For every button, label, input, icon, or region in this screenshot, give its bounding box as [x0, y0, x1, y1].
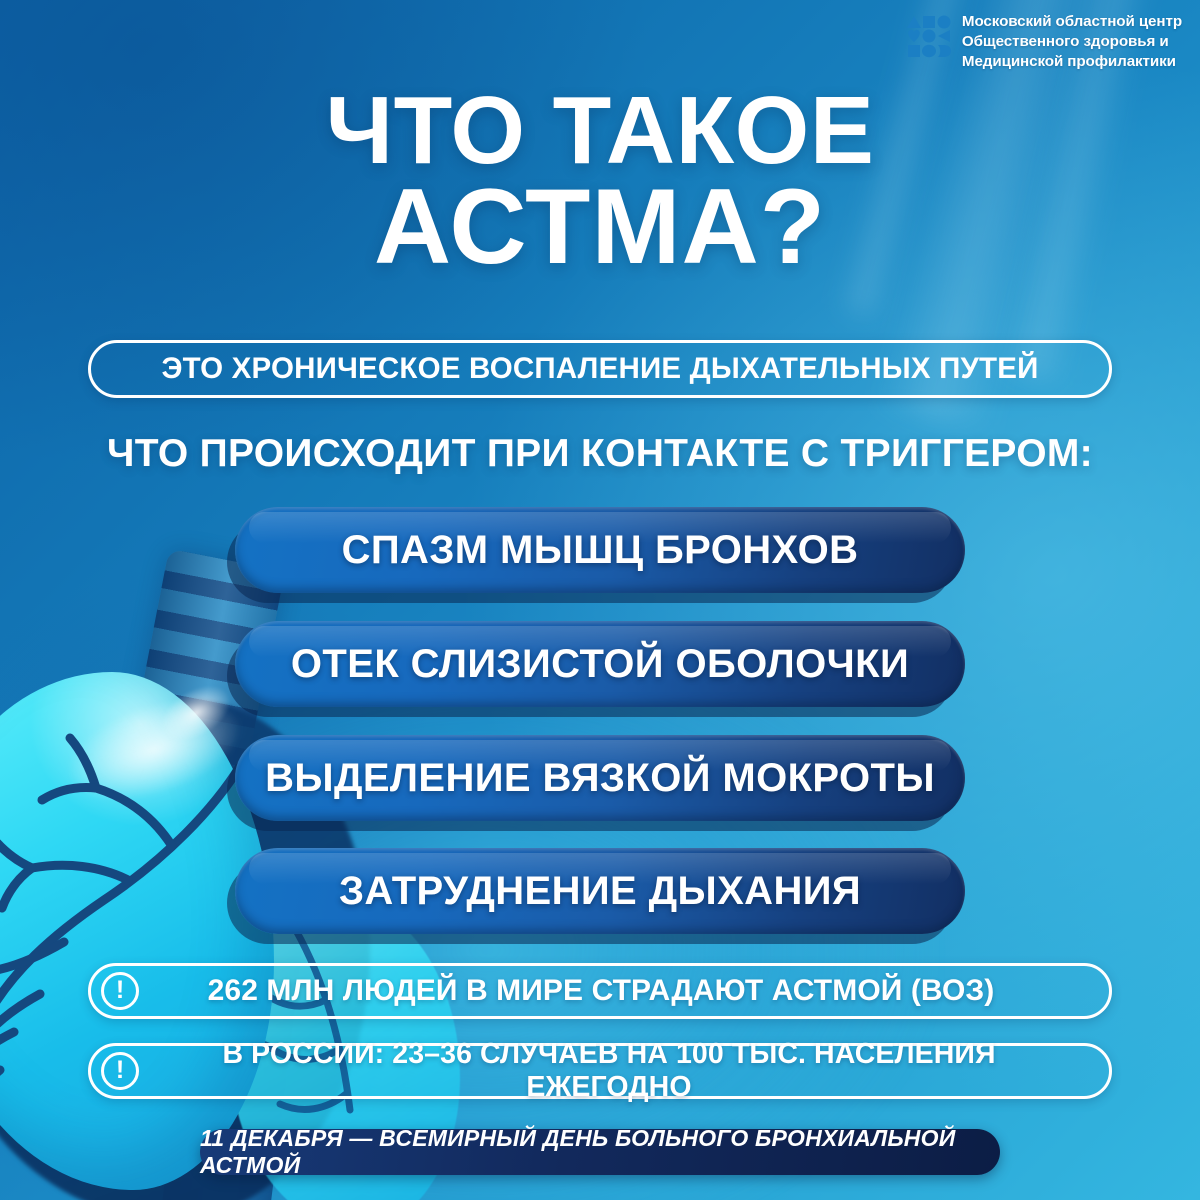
infographic-poster: Московский областной центр Общественного…: [0, 0, 1200, 1200]
section-heading: ЧТО ПРОИСХОДИТ ПРИ КОНТАКТЕ С ТРИГГЕРОМ:: [0, 432, 1200, 476]
lung-highlight: [50, 677, 257, 823]
subtitle-text: ЭТО ХРОНИЧЕСКОЕ ВОСПАЛЕНИЕ ДЫХАТЕЛЬНЫХ П…: [161, 352, 1038, 386]
moz-shapes-grid-icon: [905, 14, 951, 60]
lung-highlight-small: [152, 674, 241, 752]
symptom-pill-2: ОТЕК СЛИЗИСТОЙ ОБОЛОЧКИ: [235, 621, 965, 707]
symptom-label: ЗАТРУДНЕНИЕ ДЫХАНИЯ: [339, 869, 861, 914]
page-title: ЧТО ТАКОЕ АСТМА?: [0, 86, 1200, 277]
statistic-banner-russia: ! В РОССИИ: 23–36 СЛУЧАЕВ НА 100 ТЫС. НА…: [88, 1043, 1112, 1099]
page-title-line-2: АСТМА?: [0, 176, 1200, 277]
footer-banner: 11 ДЕКАБРЯ — ВСЕМИРНЫЙ ДЕНЬ БОЛЬНОГО БРО…: [200, 1129, 1000, 1175]
logo-text: Московский областной центр Общественного…: [962, 12, 1182, 73]
symptom-pill-3: ВЫДЕЛЕНИЕ ВЯЗКОЙ МОКРОТЫ: [235, 735, 965, 821]
symptom-label: СПАЗМ МЫШЦ БРОНХОВ: [342, 528, 859, 573]
footer-text: 11 ДЕКАБРЯ — ВСЕМИРНЫЙ ДЕНЬ БОЛЬНОГО БРО…: [200, 1125, 1000, 1179]
exclamation-circle-icon: !: [101, 1052, 139, 1090]
symptom-label: ОТЕК СЛИЗИСТОЙ ОБОЛОЧКИ: [291, 642, 909, 687]
statistic-banner-world: ! 262 МЛН ЛЮДЕЙ В МИРЕ СТРАДАЮТ АСТМОЙ (…: [88, 963, 1112, 1019]
subtitle-banner: ЭТО ХРОНИЧЕСКОЕ ВОСПАЛЕНИЕ ДЫХАТЕЛЬНЫХ П…: [88, 340, 1112, 398]
symptom-pill-4: ЗАТРУДНЕНИЕ ДЫХАНИЯ: [235, 848, 965, 934]
exclamation-circle-icon: !: [101, 972, 139, 1010]
statistic-text: 262 МЛН ЛЮДЕЙ В МИРЕ СТРАДАЮТ АСТМОЙ (ВО…: [139, 974, 1109, 1008]
organization-logo: Московский областной центр Общественного…: [905, 12, 1182, 73]
symptom-pill-1: СПАЗМ МЫШЦ БРОНХОВ: [235, 507, 965, 593]
lung-illustration: [0, 672, 274, 1190]
statistic-text: В РОССИИ: 23–36 СЛУЧАЕВ НА 100 ТЫС. НАСЕ…: [139, 1038, 1109, 1104]
symptom-label: ВЫДЕЛЕНИЕ ВЯЗКОЙ МОКРОТЫ: [265, 756, 935, 801]
